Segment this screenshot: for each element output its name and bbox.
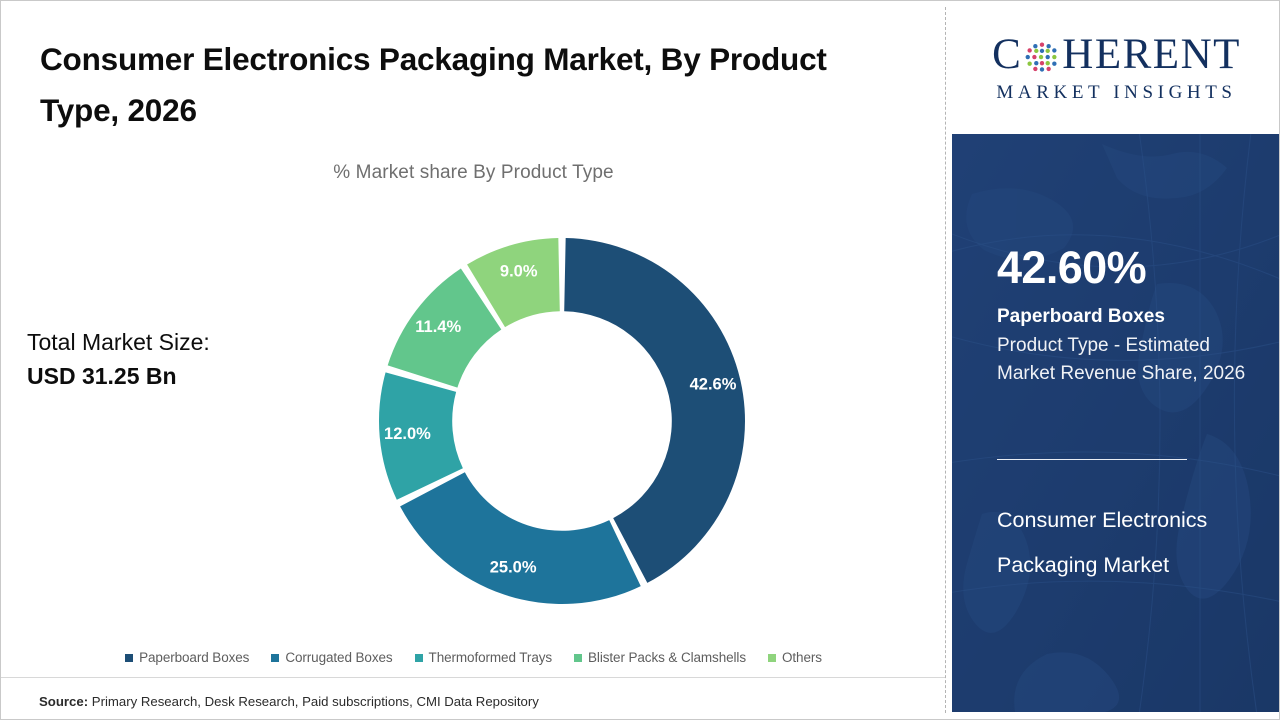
legend-swatch-icon <box>415 654 423 662</box>
market-name: Consumer Electronics Packaging Market <box>997 498 1262 588</box>
logo-tagline: MARKET INSIGHTS <box>996 83 1236 102</box>
legend-swatch-icon <box>125 654 133 662</box>
legend-swatch-icon <box>574 654 582 662</box>
page-title: Consumer Electronics Packaging Market, B… <box>40 34 860 136</box>
chart-subtitle: % Market share By Product Type <box>1 162 946 184</box>
main-content: Consumer Electronics Packaging Market, B… <box>1 1 946 719</box>
total-market-size: Total Market Size: USD 31.25 Bn <box>27 325 357 393</box>
logo-wordmark: C <box>992 33 1241 76</box>
donut-slices <box>379 238 745 604</box>
brand-logo: C <box>952 1 1280 134</box>
total-market-size-label: Total Market Size: <box>27 329 210 355</box>
kpi-description: Product Type - Estimated Market Revenue … <box>997 332 1247 388</box>
infographic-page: Consumer Electronics Packaging Market, B… <box>0 0 1280 720</box>
legend-label: Paperboard Boxes <box>139 650 249 665</box>
legend-item[interactable]: Corrugated Boxes <box>271 650 392 665</box>
donut-slice-label: 9.0% <box>500 262 538 280</box>
logo-letter-c: C <box>992 33 1022 76</box>
vertical-dashed-divider <box>945 7 946 713</box>
legend-label: Blister Packs & Clamshells <box>588 650 746 665</box>
donut-slice-label: 25.0% <box>490 559 537 577</box>
logo-wordmark-rest: HERENT <box>1062 33 1241 76</box>
globe-dots-icon <box>1023 39 1061 77</box>
donut-chart: 42.6%25.0%12.0%11.4%9.0% <box>379 238 745 604</box>
total-market-size-value: USD 31.25 Bn <box>27 359 357 393</box>
donut-slice <box>400 472 641 604</box>
legend-label: Thermoformed Trays <box>429 650 552 665</box>
source-label: Source: <box>39 694 88 709</box>
legend-item[interactable]: Blister Packs & Clamshells <box>574 650 746 665</box>
legend-label: Corrugated Boxes <box>285 650 392 665</box>
donut-slice-label: 42.6% <box>690 376 737 394</box>
donut-slice-label: 11.4% <box>415 318 461 336</box>
legend-swatch-icon <box>271 654 279 662</box>
legend-item[interactable]: Others <box>768 650 822 665</box>
chart-legend: Paperboard BoxesCorrugated BoxesThermofo… <box>1 650 946 665</box>
sidebar-navy-panel: 42.60% Paperboard Boxes Product Type - E… <box>952 134 1280 712</box>
donut-slice-label: 12.0% <box>384 425 431 443</box>
legend-swatch-icon <box>768 654 776 662</box>
legend-item[interactable]: Thermoformed Trays <box>415 650 552 665</box>
source-divider <box>1 677 946 678</box>
legend-item[interactable]: Paperboard Boxes <box>125 650 249 665</box>
source-text: Primary Research, Desk Research, Paid su… <box>88 694 539 709</box>
kpi-name: Paperboard Boxes <box>997 306 1165 329</box>
donut-chart-svg: 42.6%25.0%12.0%11.4%9.0% <box>379 238 745 604</box>
source-note: Source: Primary Research, Desk Research,… <box>39 694 539 709</box>
sidebar-content: 42.60% Paperboard Boxes Product Type - E… <box>952 134 1280 712</box>
sidebar-divider <box>997 459 1187 460</box>
legend-label: Others <box>782 650 822 665</box>
kpi-value: 42.60% <box>997 245 1146 290</box>
sidebar: C <box>952 1 1280 719</box>
